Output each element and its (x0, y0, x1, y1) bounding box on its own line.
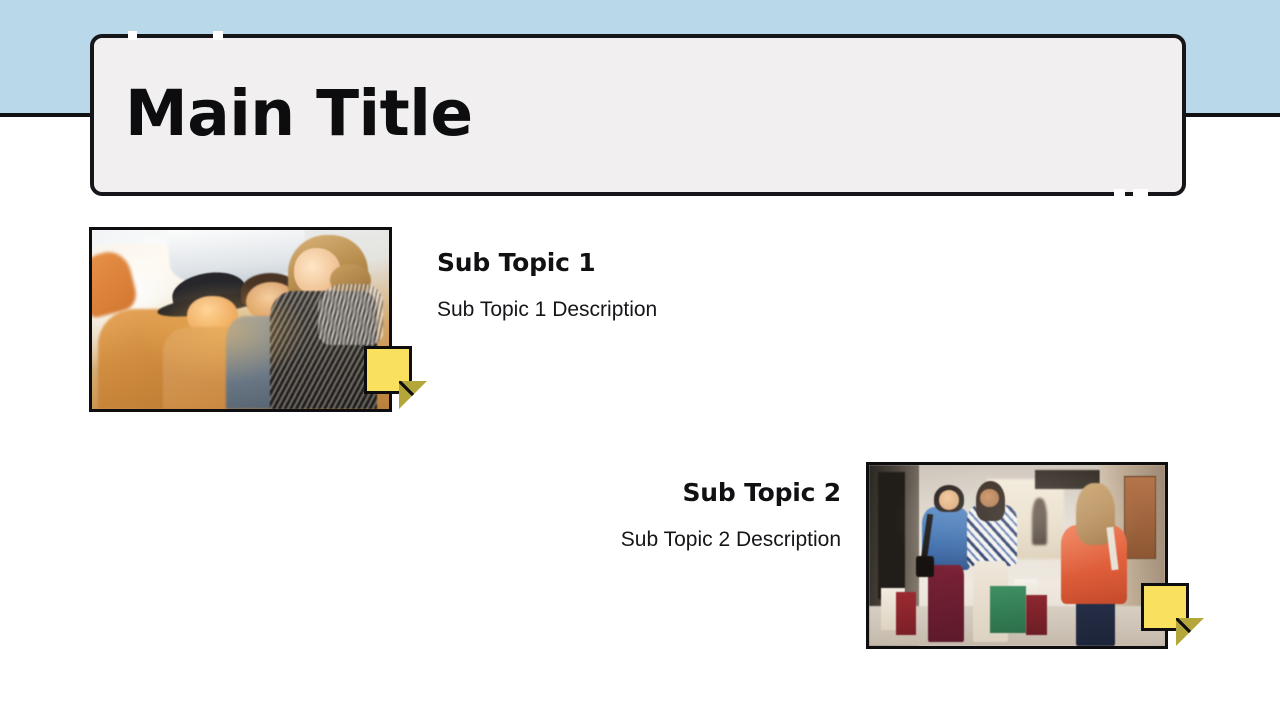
page-title: Main Title (94, 82, 473, 145)
photo-friends-laughing (92, 230, 389, 409)
title-card-border-gap-bottom-right (1133, 189, 1148, 198)
title-card-border-gap-top-left (128, 31, 137, 40)
topic-1-description: Sub Topic 1 Description (437, 297, 657, 322)
topic-1-title: Sub Topic 1 (437, 249, 657, 278)
topic-1-image[interactable] (89, 227, 392, 412)
sticky-note-fold-edge-icon (399, 381, 427, 409)
title-card[interactable]: Main Title (90, 34, 1186, 196)
topic-2-description: Sub Topic 2 Description (525, 527, 841, 552)
topic-1-sticky-note[interactable] (364, 346, 412, 394)
topic-2-text-block: Sub Topic 2 Sub Topic 2 Description (525, 479, 841, 552)
title-card-border-gap-top-right (213, 31, 223, 40)
slide-canvas: Main Title (0, 0, 1280, 720)
topic-2-title: Sub Topic 2 (525, 479, 841, 508)
title-card-border-gap-bottom-left (1114, 189, 1125, 198)
topic-1-text-block: Sub Topic 1 Sub Topic 1 Description (437, 249, 657, 322)
topic-2-sticky-note[interactable] (1141, 583, 1189, 631)
photo-women-shopping (869, 465, 1165, 646)
sticky-note-fold-edge-icon (1176, 618, 1204, 646)
topic-2-image[interactable] (866, 462, 1168, 649)
